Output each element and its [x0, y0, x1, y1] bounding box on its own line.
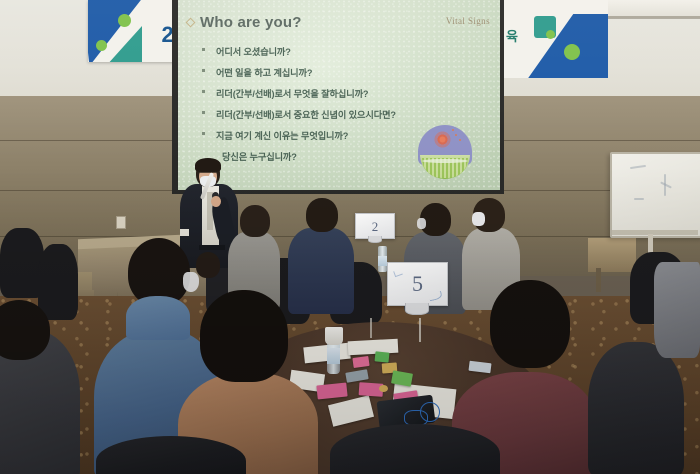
face-mask-icon: [417, 218, 426, 229]
slide-bullet: 어디서 오셨습니까?: [200, 44, 480, 58]
slide-bullet-text: 당신은 누구십니까?: [222, 152, 297, 162]
card-stand-post: [419, 318, 421, 342]
presenter-belt: [199, 245, 225, 250]
slide-brand-label: Vital Signs: [446, 16, 490, 26]
slide-bullet: 어떤 일을 하고 계십니까?: [200, 65, 480, 79]
wall-banner-left: 한 20: [88, 0, 184, 62]
slide-bullet: 리더(간부/선배)로서 중요한 신념이 있으시다면?: [200, 107, 480, 121]
attendee-head: [240, 205, 270, 237]
whiteboard-tray: [612, 230, 698, 235]
bottle-label: [327, 348, 340, 364]
whiteboard-mark: [660, 181, 672, 188]
bullet-square-icon: [202, 48, 205, 51]
side-desk-leg: [596, 268, 601, 292]
slide-bullet-text: 어떤 일을 하고 계십니까?: [216, 68, 312, 78]
bottle-label: [378, 256, 387, 266]
table-number-value: 5: [412, 273, 423, 295]
logo-speck: [452, 129, 454, 131]
projection-screen: Who are you? Vital Signs 어디서 오셨습니까? 어떤 일…: [178, 0, 500, 190]
banner-dot: [564, 44, 580, 60]
chair[interactable]: [38, 244, 78, 320]
banner-dot: [118, 14, 131, 27]
slide-title: Who are you?: [200, 14, 302, 31]
whiteboard-mark: [630, 165, 646, 169]
wall-outlet[interactable]: [116, 216, 126, 229]
banner-dot: [96, 40, 107, 51]
card-decoration-tick: [393, 269, 403, 277]
banner-dot: [546, 30, 555, 39]
paper-cup: [325, 327, 343, 345]
wall-banner-right: 육: [500, 0, 608, 78]
worksheet-paper: [348, 339, 399, 356]
slide-bullet: 리더(간부/선배)로서 무엇을 잘하십니까?: [200, 86, 480, 100]
whiteboard[interactable]: [610, 152, 700, 238]
table-number-card-5: 5: [387, 262, 448, 306]
jacket-on-chair: [654, 262, 700, 358]
side-desk-right: [588, 238, 636, 272]
attendee-head: [490, 280, 570, 368]
card-stand: [368, 236, 382, 243]
bullet-square-icon: [202, 132, 205, 135]
chair[interactable]: [588, 342, 684, 474]
sticky-note-green: [375, 351, 390, 362]
card-stand: [405, 303, 429, 315]
slide-bullet-text: 리더(간부/선배)로서 무엇을 잘하십니까?: [216, 89, 368, 99]
marker-pen: [379, 385, 388, 392]
card-stand-post: [370, 318, 372, 338]
attendee-torso: [288, 228, 354, 314]
sun-icon: [434, 131, 451, 148]
slide-diamond-icon: [186, 18, 196, 28]
slide-bullet-text: 지금 여기 계신 이유는 무엇입니까?: [216, 131, 348, 141]
presenter-cuff: [180, 229, 189, 236]
bullet-square-icon: [202, 111, 205, 114]
seminar-room-photo: 한 20 육 Who are you? Vital Signs 어디서 오셨습니…: [0, 0, 700, 474]
slide-bullet-text: 어디서 오셨습니까?: [216, 47, 291, 57]
attendee-shoulders: [126, 296, 190, 340]
attendee-head: [306, 198, 338, 232]
whiteboard-mark: [634, 198, 644, 200]
logo-speck: [455, 134, 457, 136]
face-mask-icon: [183, 272, 199, 292]
logo-horizon-wave: [422, 159, 468, 163]
banner-korean-text: 육: [506, 26, 517, 45]
presenter-hair: [195, 158, 221, 172]
logo-speck: [459, 139, 461, 141]
face-mask-icon: [472, 212, 485, 226]
sunrise-landscape-logo: [418, 125, 472, 179]
attendee-head: [196, 252, 220, 278]
bullet-square-icon: [202, 69, 205, 72]
table-number-value: 2: [372, 220, 379, 233]
attendee-head: [200, 290, 288, 382]
wall-seam: [0, 236, 700, 237]
bullet-square-icon: [202, 90, 205, 93]
presenter-hand: [211, 196, 221, 207]
card-decoration-swoosh: [428, 291, 442, 302]
slide-bullet-text: 리더(간부/선배)로서 중요한 신념이 있으시다면?: [216, 110, 396, 120]
